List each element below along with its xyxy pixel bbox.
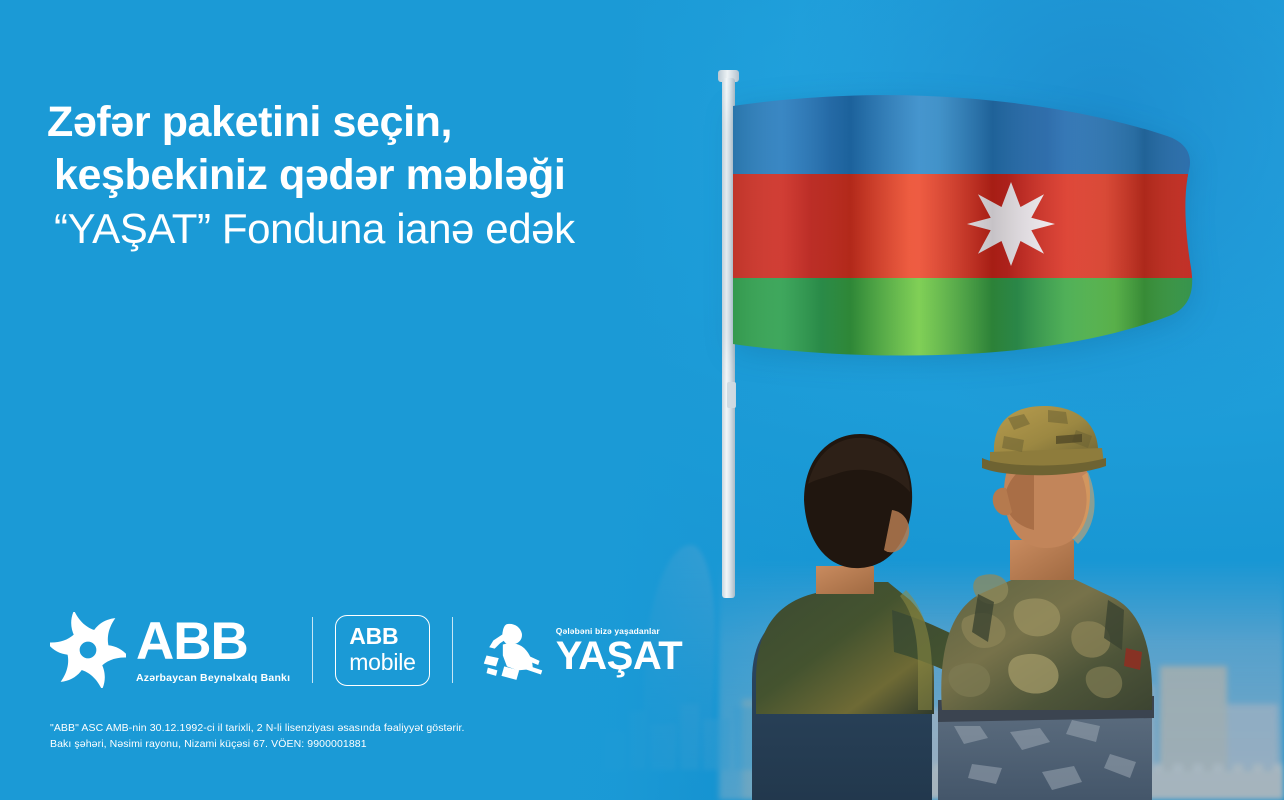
civilian-and-soldier-embrace (742, 380, 1202, 800)
headline-line-3: “YAŞAT” Fonduna ianə edək (47, 202, 747, 256)
headline-line-1: Zəfər paketini seçin, (47, 96, 747, 149)
logo-divider-1 (312, 617, 313, 683)
logo-bar: ABB Azərbaycan Beynəlxalq Bankı ABB mobi… (50, 612, 682, 688)
yasat-wordmark: Qələbəni bizə yaşadanlar YAŞAT (556, 626, 682, 675)
headline: Zəfər paketini seçin, keşbekiniz qədər m… (47, 96, 747, 256)
abb-mobile-line-1: ABB (349, 625, 416, 648)
flag-cleat (727, 382, 736, 408)
headline-line-2: keşbekiniz qədər məbləği (47, 149, 747, 202)
soldier-figure (938, 406, 1154, 800)
yasat-logo: Qələbəni bizə yaşadanlar YAŞAT (475, 616, 682, 684)
abb-logo: ABB Azərbaycan Beynəlxalq Bankı (50, 612, 290, 688)
legal-disclaimer: "ABB" ASC AMB-nin 30.12.1992-ci il tarix… (50, 720, 465, 752)
yasat-wordmark-text: YAŞAT (556, 637, 682, 675)
abb-wordmark: ABB Azərbaycan Beynəlxalq Bankı (136, 617, 290, 684)
logo-divider-2 (452, 617, 453, 683)
abb-wordmark-text: ABB (136, 617, 290, 667)
promo-banner: Zəfər paketini seçin, keşbekiniz qədər m… (0, 0, 1284, 800)
saluting-soldier-icon (475, 616, 547, 684)
legal-line-1: "ABB" ASC AMB-nin 30.12.1992-ci il tarix… (50, 720, 465, 736)
abb-mobile-logo: ABB mobile (335, 615, 430, 686)
abb-pinwheel-icon (50, 612, 126, 688)
azerbaijan-flag (733, 92, 1203, 360)
abb-subtitle: Azərbaycan Beynəlxalq Bankı (136, 672, 290, 684)
legal-line-2: Bakı şəhəri, Nəsimi rayonu, Nizami küçəs… (50, 736, 465, 752)
abb-mobile-line-2: mobile (349, 651, 416, 674)
